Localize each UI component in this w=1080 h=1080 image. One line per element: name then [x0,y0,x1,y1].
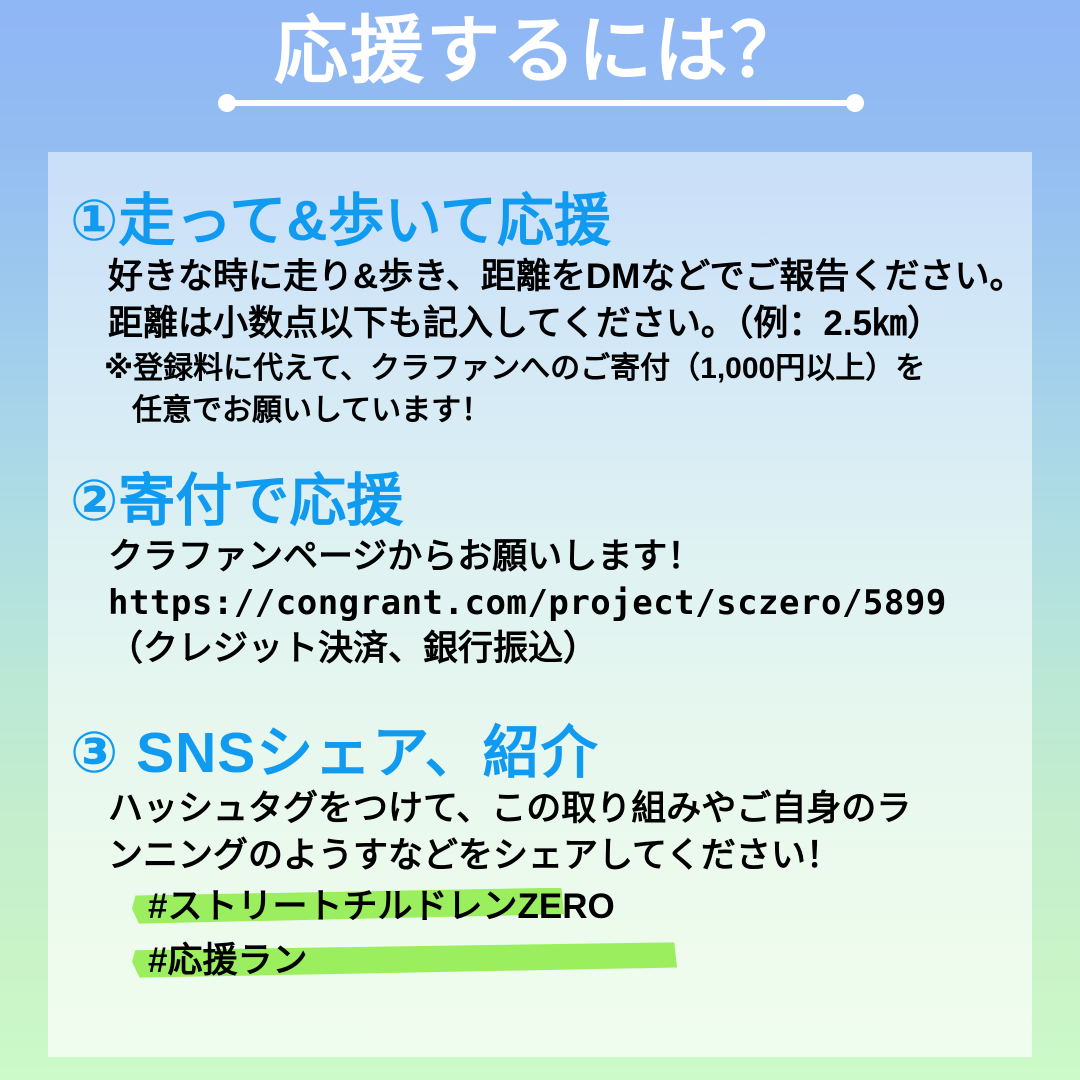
section-run-and-walk: ①走って&歩いて応援 好きな時に走り&歩き、距離をDMなどでご報告ください。 距… [48,190,1032,433]
content-card: ①走って&歩いて応援 好きな時に走り&歩き、距離をDMなどでご報告ください。 距… [48,152,1032,1057]
page-title: 応援するには？ [0,12,1080,90]
crowdfunding-url-link[interactable]: https://congrant.com/project/sczero/5899 [108,581,1032,627]
section-1-note-line-1: ※登録料に代えて、クラファンへのご寄付（1,000円以上）を [104,348,1032,391]
hashtag-row-1: #ストリートチルドレンZERO [132,880,1032,934]
section-3-body-line-2: ンニングのようすなどをシェアしてください！ [108,833,1032,880]
section-sns-share: ③ SNSシェア、紹介 ハッシュタグをつけて、この取り組みやご自身のラ ンニング… [48,722,1032,988]
section-donation: ②寄付で応援 クラファンページからお願いします！ https://congran… [48,470,1032,673]
hashtag-row-2: #応援ラン [132,934,1032,988]
section-1-heading: ①走って&歩いて応援 [70,190,1032,254]
section-1-note-line-2: 任意でお願いしています！ [132,390,1032,433]
section-3-body-line-1: ハッシュタグをつけて、この取り組みやご自身のラ [108,786,1032,833]
hashtag-street-children-zero[interactable]: #ストリートチルドレンZERO [148,880,1032,934]
section-2-heading: ②寄付で応援 [70,470,1032,534]
divider-line [226,100,856,106]
header: 応援するには？ [0,0,1080,150]
title-divider [218,92,864,114]
section-1-body-line-2: 距離は小数点以下も記入してください。（例：2.5㎞） [108,301,1032,348]
hashtag-ouen-run[interactable]: #応援ラン [148,934,1032,988]
section-1-body-line-1: 好きな時に走り&歩き、距離をDMなどでご報告ください。 [108,254,1032,301]
section-3-heading: ③ SNSシェア、紹介 [70,722,1032,786]
divider-dot-right-icon [846,94,864,112]
section-2-body-line-1: クラファンページからお願いします！ [108,534,1032,581]
section-2-body-line-3: （クレジット決済、銀行振込） [108,626,1032,673]
